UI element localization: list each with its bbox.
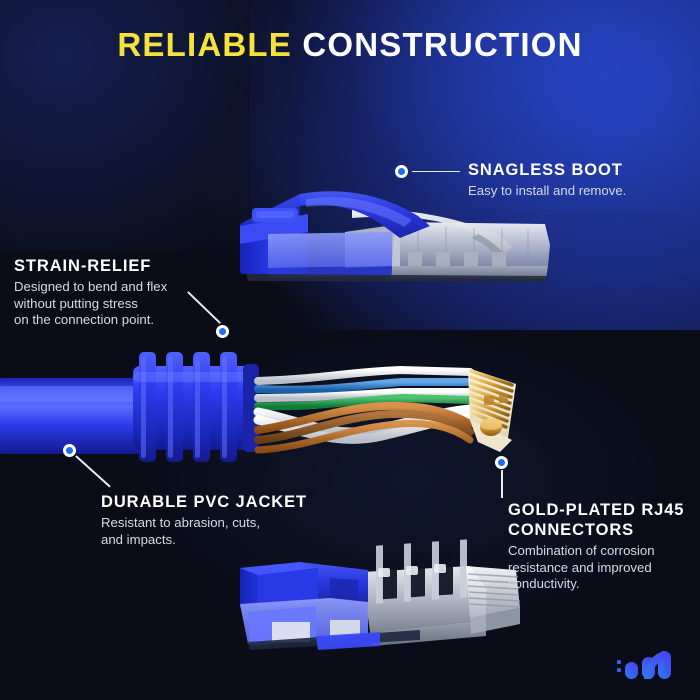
callout-body-line: Combination of corrosion — [508, 543, 688, 560]
callout-body-line: without putting stress — [14, 296, 167, 313]
callout-strain-relief: STRAIN-RELIEF Designed to bend and flex … — [14, 256, 167, 329]
callout-body-durable-pvc-jacket: Resistant to abrasion, cuts, and impacts… — [101, 515, 307, 548]
leader-line-snagless-boot — [412, 171, 460, 173]
callout-body-line: and impacts. — [101, 532, 307, 549]
page-title-rest: CONSTRUCTION — [302, 26, 582, 63]
callout-body-snagless-boot: Easy to install and remove. — [468, 183, 626, 200]
callout-body-line: resistance and improved — [508, 560, 688, 577]
callout-body-strain-relief: Designed to bend and flex without puttin… — [14, 279, 167, 329]
leader-dot-strain-relief — [216, 325, 229, 338]
leader-dot-gold-plated — [495, 456, 508, 469]
callout-gold-plated-rj45-connectors: GOLD-PLATED RJ45 CONNECTORS Combination … — [508, 500, 688, 593]
bottom-rj45-connector-artwork — [240, 539, 520, 650]
callout-heading-snagless-boot: SNAGLESS BOOT — [468, 160, 626, 180]
top-rj45-connector-artwork — [240, 191, 550, 282]
page-title: RELIABLE CONSTRUCTION — [0, 26, 700, 64]
page-title-highlight: RELIABLE — [117, 26, 292, 63]
callout-snagless-boot: SNAGLESS BOOT Easy to install and remove… — [468, 160, 626, 200]
callout-heading-strain-relief: STRAIN-RELIEF — [14, 256, 167, 276]
callout-body-line: conductivity. — [508, 576, 688, 593]
cable-and-wires-artwork — [0, 352, 516, 462]
callout-body-line: Easy to install and remove. — [468, 183, 626, 200]
gold-plated-connector-head — [468, 368, 516, 452]
product-illustration — [0, 0, 700, 700]
callout-heading-gold-plated-rj45-connectors: GOLD-PLATED RJ45 CONNECTORS — [508, 500, 688, 540]
brand-logo — [617, 644, 683, 686]
leader-line-gold-plated — [501, 470, 503, 498]
callout-body-line: on the connection point. — [14, 312, 167, 329]
infographic-canvas: RELIABLE CONSTRUCTION SNAGLESS BOOT Easy… — [0, 0, 700, 700]
callout-heading-durable-pvc-jacket: DURABLE PVC JACKET — [101, 492, 307, 512]
leader-dot-snagless-boot — [395, 165, 408, 178]
callout-body-gold-plated-rj45-connectors: Combination of corrosion resistance and … — [508, 543, 688, 593]
callout-body-line: Resistant to abrasion, cuts, — [101, 515, 307, 532]
callout-body-line: Designed to bend and flex — [14, 279, 167, 296]
leader-dot-pvc-jacket — [63, 444, 76, 457]
callout-durable-pvc-jacket: DURABLE PVC JACKET Resistant to abrasion… — [101, 492, 307, 548]
